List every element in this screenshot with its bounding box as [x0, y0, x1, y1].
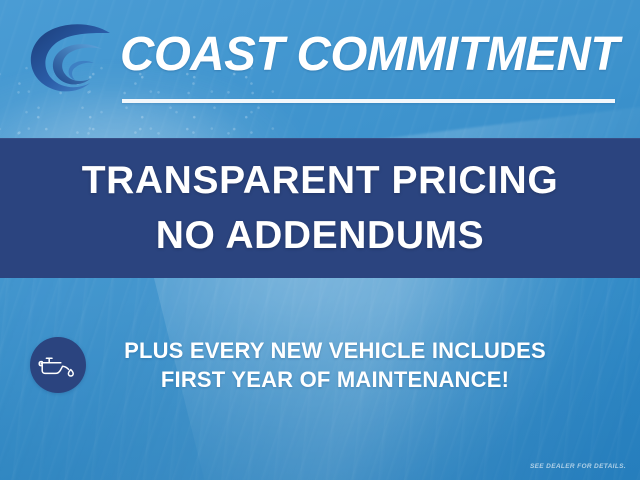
banner-header: COAST COMMITMENT: [0, 0, 640, 138]
promo-row: PLUS EVERY NEW VEHICLE INCLUDES FIRST YE…: [0, 325, 640, 405]
wave-swoosh-logo-icon: [22, 22, 118, 96]
brand-title: COAST COMMITMENT: [120, 26, 619, 84]
promo-text: PLUS EVERY NEW VEHICLE INCLUDES FIRST YE…: [86, 336, 640, 394]
coast-commitment-banner: COAST COMMITMENT TRANSPARENT PRICING NO …: [0, 0, 640, 480]
disclaimer-text: SEE DEALER FOR DETAILS.: [530, 463, 626, 470]
headline-band: TRANSPARENT PRICING NO ADDENDUMS: [0, 138, 640, 278]
headline-line-1: TRANSPARENT PRICING: [82, 161, 559, 200]
headline-line-2: NO ADDENDUMS: [156, 216, 485, 255]
promo-line-1: PLUS EVERY NEW VEHICLE INCLUDES: [86, 336, 584, 365]
header-divider: [122, 99, 615, 103]
oil-can-icon: [30, 337, 86, 393]
promo-line-2: FIRST YEAR OF MAINTENANCE!: [86, 365, 584, 394]
